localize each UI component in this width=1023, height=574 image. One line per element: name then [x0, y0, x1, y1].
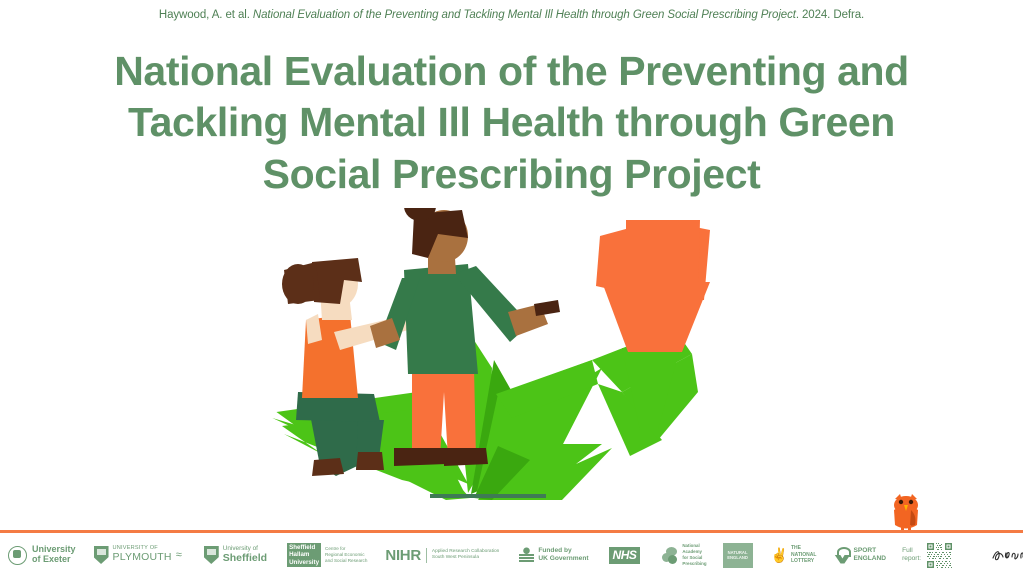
report-line2: report:: [902, 555, 921, 563]
sheffield-line2: Sheffield: [223, 553, 267, 564]
qr-code-icon[interactable]: [926, 542, 953, 569]
logo-university-of-plymouth: UNIVERSITY OF PLYMOUTH ≈: [94, 546, 182, 564]
sport-england-mark-icon: [834, 547, 850, 564]
ground-line: [430, 494, 546, 498]
logo-nihr-arc-south-west-peninsula: NIHR Applied Research Collaboration Sout…: [385, 547, 499, 564]
logo-nhs: NHS: [609, 547, 641, 564]
report-line1: Full: [902, 547, 921, 555]
citation-suffix: . 2024. Defra.: [796, 9, 864, 21]
plymouth-wave-icon: ≈: [176, 549, 182, 561]
citation-authors: Haywood, A. et al.: [159, 9, 253, 21]
nasp-line4: Prescribing: [682, 561, 706, 567]
crossed-fingers-icon: ✌: [771, 548, 788, 562]
nhs-wordmark: NHS: [609, 547, 641, 564]
logo-university-of-sheffield: University of Sheffield: [204, 546, 267, 564]
logo-sheffield-hallam-cresr: Sheffield Hallam University Centre for R…: [287, 543, 367, 567]
exeter-line2: of Exeter: [32, 555, 76, 565]
natural-line2: ENGLAND: [727, 555, 748, 560]
shu-block1: Sheffield: [289, 544, 319, 551]
lottery-line3: LOTTERY: [791, 558, 816, 565]
logo-sport-england: SPORT ENGLAND: [834, 547, 886, 564]
ukgov-line2: UK Government: [538, 555, 588, 563]
plymouth-shield-icon: [94, 546, 109, 564]
sport-line1: SPORT: [853, 547, 886, 555]
handwritten-signature: [989, 544, 1023, 566]
plymouth-line2: PLYMOUTH: [113, 552, 172, 563]
royal-crest-icon: [519, 547, 534, 564]
cresr-desc2: Regional Economic: [325, 552, 367, 558]
logo-natural-england: NATURAL ENGLAND: [723, 543, 753, 568]
sheffield-shield-icon: [204, 546, 219, 564]
divider-rule: [0, 530, 1023, 533]
nihr-wordmark: NIHR: [385, 547, 420, 564]
logo-national-academy-for-social-prescribing: National Academy for Social Prescribing: [662, 543, 706, 566]
slide-root: Haywood, A. et al. National Evaluation o…: [0, 0, 1023, 574]
shu-block2: Hallam: [289, 551, 319, 558]
nasp-mark-icon: [662, 547, 678, 564]
nihr-divider: [426, 548, 427, 563]
full-report-qr[interactable]: Full report:: [902, 542, 953, 569]
sport-line2: ENGLAND: [853, 555, 886, 563]
nihr-desc2: South West Peninsula: [432, 555, 499, 561]
citation: Haywood, A. et al. National Evaluation o…: [0, 9, 1023, 21]
cresr-desc3: and Social Research: [325, 558, 367, 564]
flower: [596, 220, 710, 352]
citation-work-title: National Evaluation of the Preventing an…: [253, 9, 796, 21]
exeter-seal-icon: [8, 546, 27, 565]
illustration: [262, 208, 762, 508]
ukgov-line1: Funded by: [538, 547, 588, 555]
shu-block3: University: [289, 559, 319, 566]
logo-funded-by-uk-government: Funded by UK Government: [519, 547, 588, 564]
logo-the-national-lottery: ✌ THE NATIONAL LOTTERY: [771, 545, 817, 565]
logo-university-of-exeter: University of Exeter: [8, 545, 76, 564]
partner-logo-bar: University of Exeter UNIVERSITY OF PLYMO…: [0, 536, 1023, 574]
page-title: National Evaluation of the Preventing an…: [80, 46, 943, 200]
